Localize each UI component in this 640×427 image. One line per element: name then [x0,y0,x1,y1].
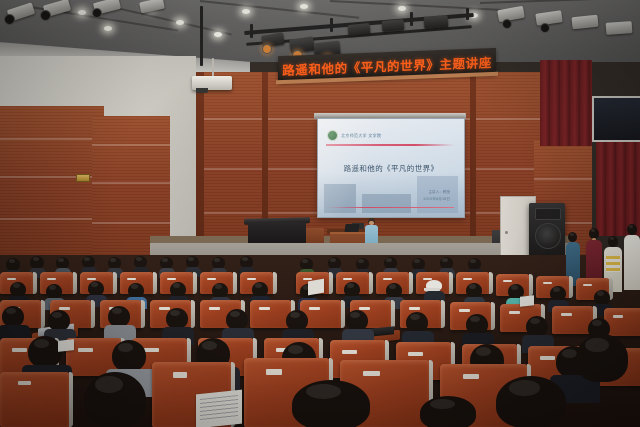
spotlight-lens [540,23,550,33]
wall-monitor [592,96,640,142]
handout-paper [58,339,74,352]
screen-glare [318,119,464,217]
white-cap [426,280,442,291]
spotlight-lens [502,19,512,29]
foreground-person [576,334,632,392]
foreground-person [84,372,154,427]
lecture-hall-photo: 路遥和他的《平凡的世界》主题讲座 北京师范大学 文学院 路遥和他的《平凡的世界》… [0,0,640,427]
truss-post [330,18,333,32]
stage-curtain-right [596,140,640,236]
spotlight [606,21,633,35]
stage-curtain [540,60,592,146]
spotlight-lens [4,14,15,25]
speaker [365,218,378,244]
downlight [104,26,112,31]
downlight [78,10,86,15]
foreground-person [420,396,480,427]
pa-speaker [529,203,565,259]
handout-paper [196,390,242,427]
laptop [344,224,359,232]
downlight [242,9,250,14]
audience-person [2,306,28,340]
projector-lens [196,88,208,93]
downlight [398,6,406,11]
truss-post [250,24,253,38]
wood-panel-left-2 [92,116,170,256]
truss-drop-rod [200,6,203,66]
speaker-torso [365,225,378,244]
spotlight [382,19,405,32]
foreground-person [292,380,376,427]
handout-paper [308,279,324,296]
pa-woofer [535,223,561,249]
door-knob-icon[interactable] [505,231,508,234]
spotlight-lens [40,10,51,21]
spotlight [424,15,449,29]
audience-person [466,314,492,348]
audience-person [108,306,134,340]
wall-plaque [76,174,90,182]
wall-pilaster [196,72,204,248]
handout-paper [520,295,534,306]
wall-pilaster [470,72,476,248]
seat-foreground[interactable] [0,372,70,427]
audience-person [166,308,192,342]
truss-post [466,8,469,20]
downlight [214,32,222,37]
person-head [608,236,618,247]
downlight [176,20,184,25]
striped-shirt [606,256,620,272]
downlight [300,4,308,9]
projector-mount [212,58,214,78]
audience-person [346,310,372,344]
audience-person [526,316,552,350]
foreground-person [496,376,570,427]
projection-screen: 北京师范大学 文学院 路遥和他的《平凡的世界》 主讲人：教授 2015年6月18… [317,118,465,218]
spotlight [347,23,370,36]
standing-person [624,224,640,290]
truss-post [410,12,413,26]
pa-horn [535,208,561,220]
audience-person [406,312,432,346]
person-head [627,224,637,235]
person-torso [624,235,640,290]
person-head [568,232,577,242]
spotlight-lens [92,8,102,18]
spotlight-lens [262,44,272,54]
